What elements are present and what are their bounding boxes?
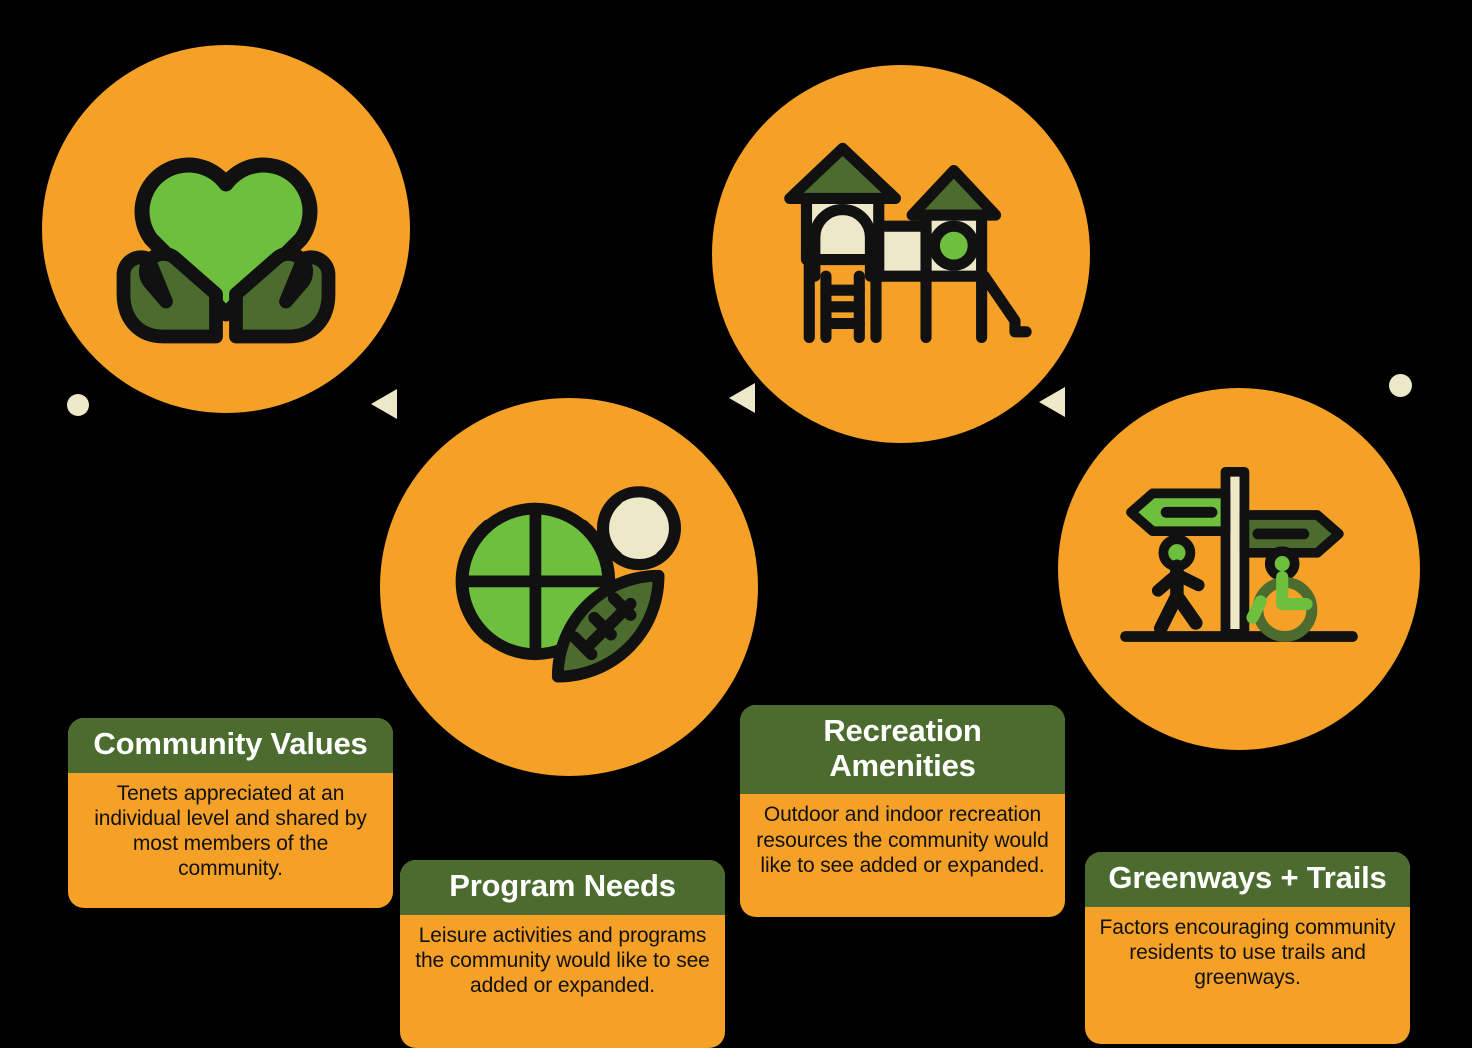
card-description: Leisure activities and programs the comm… [400,915,725,1011]
card-title: Program Needs [400,860,725,915]
heart-in-hands-icon [101,104,351,354]
infographic-canvas: Community Values Tenets appreciated at a… [0,0,1472,1048]
card-greenways-trails[interactable]: Greenways + Trails Factors encouraging c… [1085,852,1410,1044]
decorative-triangle-3 [1039,387,1065,417]
trail-signpost-icon [1104,434,1374,704]
card-description: Outdoor and indoor recreation resources … [740,794,1065,890]
card-recreation-amenities[interactable]: Recreation Amenities Outdoor and indoor … [740,705,1065,917]
card-description: Factors encouraging community residents … [1085,907,1410,1003]
circle-program-needs [380,398,758,776]
circle-recreation-amenities [712,65,1090,443]
decorative-triangle-1 [371,389,397,419]
decorative-dot-right [1389,374,1412,397]
card-title: Recreation Amenities [740,705,1065,794]
sports-balls-icon [429,447,709,727]
decorative-dot-left [67,394,89,416]
card-community-values[interactable]: Community Values Tenets appreciated at a… [68,718,393,908]
card-title: Greenways + Trails [1085,852,1410,907]
card-title: Community Values [68,718,393,773]
card-description: Tenets appreciated at an individual leve… [68,773,393,894]
circle-greenways-trails [1058,388,1420,750]
card-program-needs[interactable]: Program Needs Leisure activities and pro… [400,860,725,1048]
circle-community-values [42,45,410,413]
playground-icon [762,115,1040,393]
decorative-triangle-2 [729,383,755,413]
